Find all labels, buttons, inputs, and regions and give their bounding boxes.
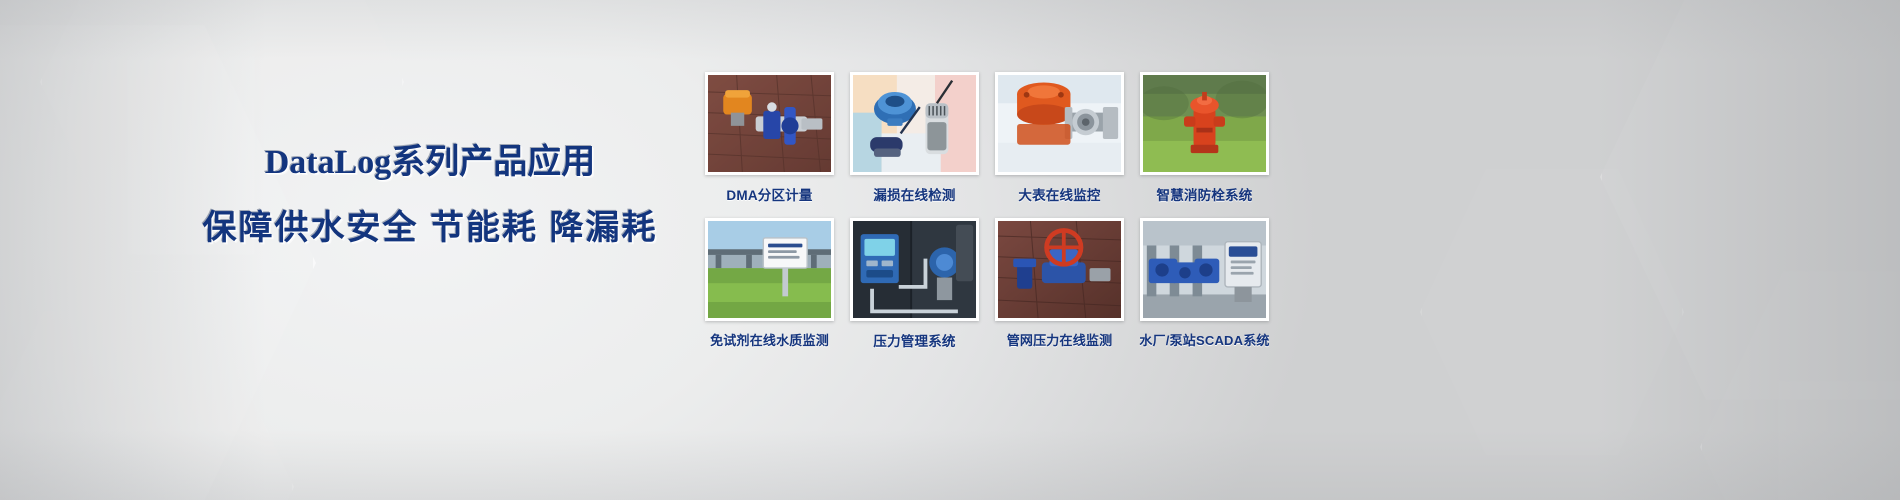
- product-card[interactable]: 压力管理系统: [850, 218, 979, 350]
- product-card-caption: 智慧消防栓系统: [1157, 184, 1253, 204]
- headline-line-1: DataLog系列产品应用: [150, 140, 710, 186]
- hexagon-shape: [1600, 0, 1900, 414]
- waterworks-pump-station-scada-photo[interactable]: [1140, 218, 1269, 321]
- product-card-caption: 管网压力在线监测: [1007, 330, 1113, 349]
- product-card-caption: 压力管理系统: [873, 330, 955, 350]
- gallery-row: DMA分区计量: [705, 72, 1269, 204]
- product-gallery: DMA分区计量: [705, 72, 1269, 350]
- product-card[interactable]: DMA分区计量: [705, 72, 834, 204]
- product-card[interactable]: 智慧消防栓系统: [1140, 72, 1269, 204]
- headline-block: DataLog系列产品应用 保障供水安全 节能耗 降漏耗: [150, 140, 710, 252]
- product-card[interactable]: 水厂/泵站SCADA系统: [1140, 218, 1269, 350]
- reagent-free-water-quality-monitoring-photo[interactable]: [705, 218, 834, 321]
- dma-zone-metering-photo[interactable]: [705, 72, 834, 175]
- pressure-management-system-photo[interactable]: [850, 218, 979, 321]
- gallery-row: 免试剂在线水质监测: [705, 218, 1269, 350]
- smart-fire-hydrant-system-photo[interactable]: [1140, 72, 1269, 175]
- product-card-caption: 漏损在线检测: [873, 184, 955, 204]
- product-card[interactable]: 大表在线监控: [995, 72, 1124, 204]
- product-card-caption: 免试剂在线水质监测: [710, 330, 829, 349]
- pipe-network-pressure-monitoring-photo[interactable]: [995, 218, 1124, 321]
- headline-line-2: 保障供水安全 节能耗 降漏耗: [150, 204, 710, 252]
- promotional-banner: DataLog系列产品应用 保障供水安全 节能耗 降漏耗: [0, 0, 1900, 500]
- product-card-caption: DMA分区计量: [726, 184, 812, 204]
- hexagon-shape: [1420, 160, 1684, 464]
- product-card-caption: 水厂/泵站SCADA系统: [1139, 330, 1269, 349]
- large-meter-online-monitoring-photo[interactable]: [995, 72, 1124, 175]
- leakage-online-detection-photo[interactable]: [850, 72, 979, 175]
- hexagon-shape: [0, 300, 294, 500]
- hexagon-shape: [1700, 260, 1900, 500]
- product-card-caption: 大表在线监控: [1018, 184, 1100, 204]
- hexagon-shape: [0, 10, 316, 500]
- product-card[interactable]: 漏损在线检测: [850, 72, 979, 204]
- product-card[interactable]: 管网压力在线监测: [995, 218, 1124, 350]
- product-card[interactable]: 免试剂在线水质监测: [705, 218, 834, 350]
